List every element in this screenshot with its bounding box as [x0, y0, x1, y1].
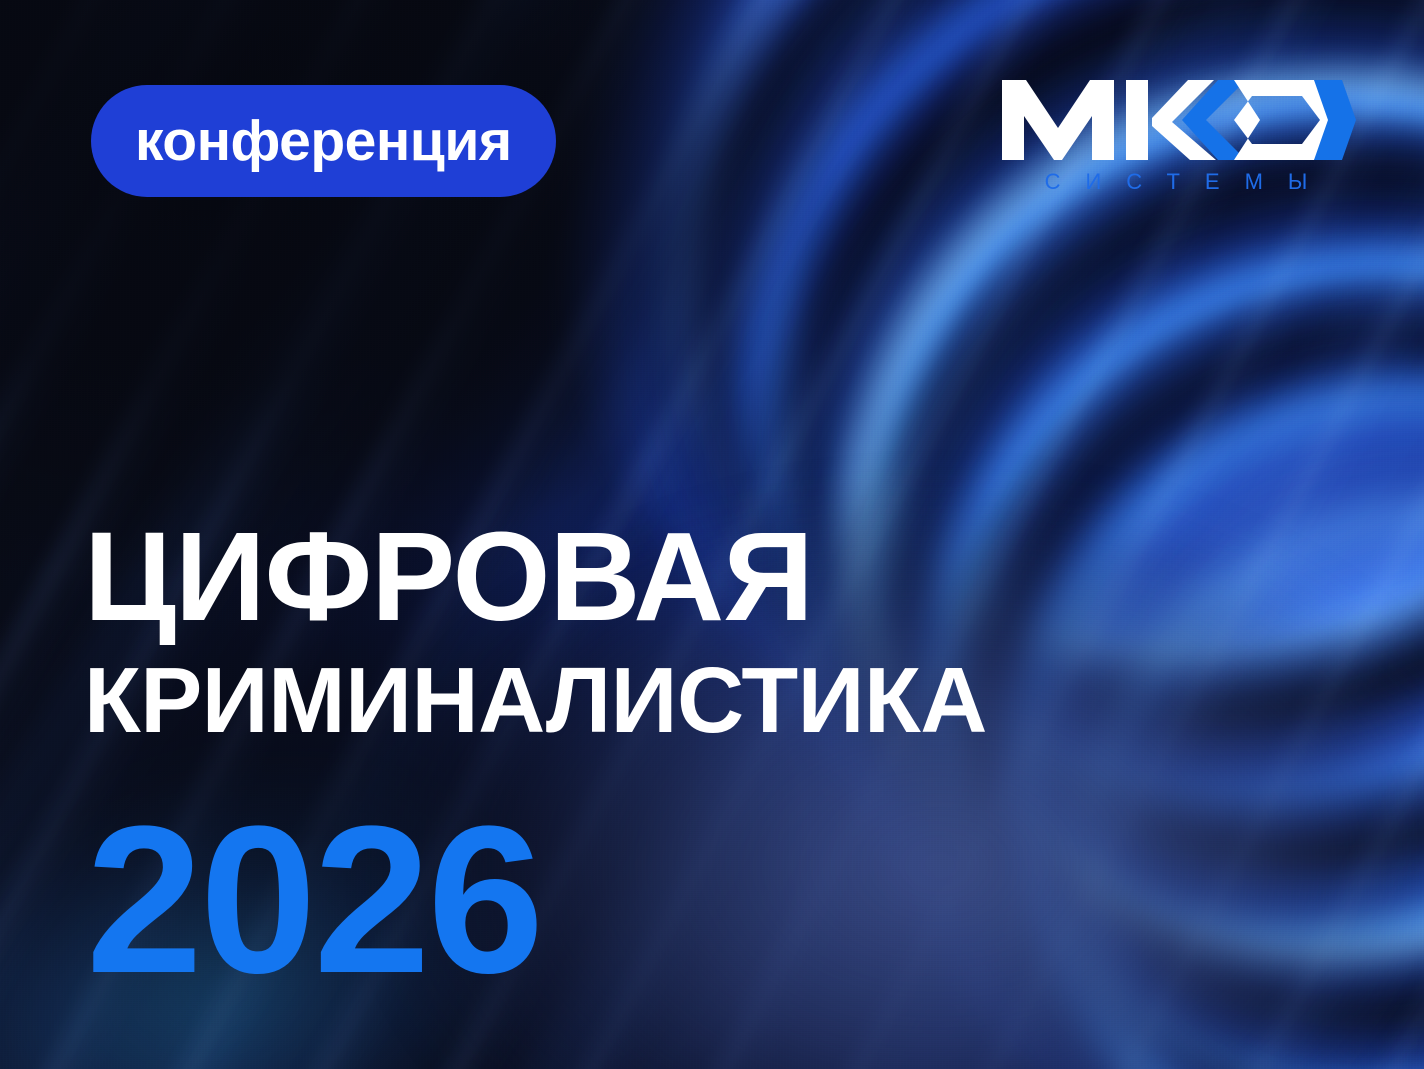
mko-logo-icon [996, 72, 1356, 164]
poster-content: конференция СИСТЕМЫ ЦИФРОВАЯ КРИМИНАЛИСТ… [0, 0, 1424, 1069]
conference-poster: конференция СИСТЕМЫ ЦИФРОВАЯ КРИМИНАЛИСТ… [0, 0, 1424, 1069]
poster-headline: ЦИФРОВАЯ КРИМИНАЛИСТИКА [84, 514, 1084, 750]
conference-badge-label: конференция [135, 113, 512, 170]
brand-logo-tagline: СИСТЕМЫ [996, 171, 1356, 193]
brand-logo[interactable]: СИСТЕМЫ [996, 72, 1356, 193]
headline-line-1: ЦИФРОВАЯ [84, 514, 1084, 640]
conference-badge[interactable]: конференция [91, 85, 556, 197]
conference-year: 2026 [86, 795, 541, 1005]
headline-line-2: КРИМИНАЛИСТИКА [84, 652, 1084, 750]
